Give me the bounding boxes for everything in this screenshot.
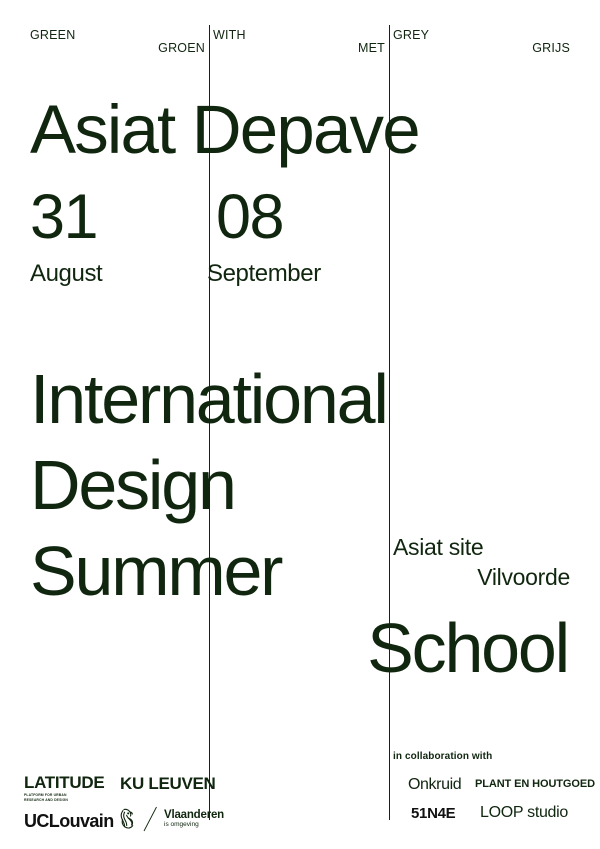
headline-line-4: School	[0, 613, 568, 683]
headline-line-2: Design	[30, 450, 235, 520]
logo-plant-en-houtgoed: PLANT EN HOUTGOED	[475, 779, 595, 790]
headline-line-1: International	[30, 364, 387, 434]
flemish-lion-icon	[118, 807, 138, 831]
poster-title: Asiat Depave	[30, 96, 419, 164]
headline-line-3: Summer	[30, 536, 281, 606]
logo-ku-leuven: KU LEUVEN	[120, 775, 216, 792]
logo-latitude: LATITUDE PLATFORM FOR URBAN RESEARCH AND…	[24, 774, 104, 802]
start-date-month: August	[30, 262, 102, 286]
venue-line-2: Vilvoorde	[393, 563, 570, 593]
collaboration-label: in collaboration with	[393, 751, 492, 762]
logo-uclouvain: UCLouvain	[24, 812, 114, 830]
logo-latitude-tagline: PLATFORM FOR URBAN RESEARCH AND DESIGN	[24, 793, 86, 802]
tagline-green: GREEN	[30, 29, 75, 42]
tagline-grijs: GRIJS	[393, 42, 570, 55]
end-date-day: 08	[216, 186, 283, 249]
logo-loop-studio: LOOP studio	[480, 805, 568, 821]
logo-onkruid: Onkruid	[408, 777, 461, 793]
logo-vlaanderen-wordmark: Vlaanderen	[164, 809, 224, 821]
tagline-with: WITH	[213, 29, 246, 42]
poster-canvas: GREEN GROEN WITH MET GREY GRIJS Asiat De…	[0, 0, 600, 849]
start-date-day: 31	[30, 186, 97, 249]
venue-line-1: Asiat site	[393, 533, 570, 563]
end-date-month: September	[207, 262, 321, 286]
logo-vlaanderen: Vlaanderen is omgeving	[118, 806, 224, 832]
venue-location: Asiat site Vilvoorde	[393, 533, 570, 593]
tagline-grey: GREY	[393, 29, 429, 42]
tagline-met: MET	[213, 42, 385, 55]
logo-latitude-wordmark: LATITUDE	[24, 774, 104, 791]
logo-divider-slash	[142, 806, 160, 832]
logo-vlaanderen-tagline: is omgeving	[164, 822, 224, 829]
logo-vlaanderen-text: Vlaanderen is omgeving	[164, 809, 224, 829]
tagline-groen: GROEN	[0, 42, 205, 55]
logo-51n4e: 51N4E	[411, 806, 455, 821]
